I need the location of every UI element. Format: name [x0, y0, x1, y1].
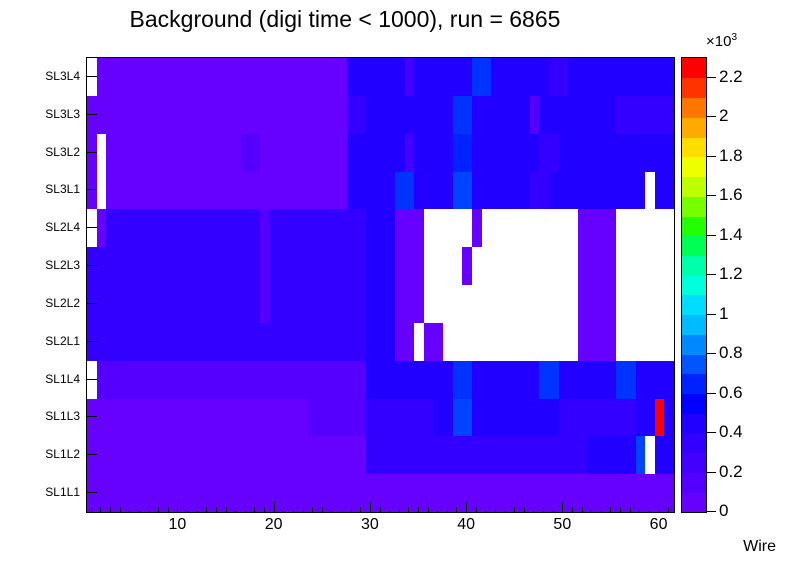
colorbar-band: [682, 295, 706, 315]
x-axis-tick: [331, 507, 332, 513]
x-axis-tick: [533, 507, 534, 513]
x-axis-tick: [206, 507, 207, 513]
heatmap-cell: [472, 96, 530, 134]
heatmap-cell: [424, 285, 579, 323]
x-axis-tick-label: 20: [265, 516, 283, 534]
heatmap-cell: [616, 285, 674, 323]
heatmap-cell: [347, 58, 405, 96]
heatmap-cell: [559, 399, 637, 437]
colorbar-band: [682, 97, 706, 117]
heatmap-cell: [87, 436, 367, 474]
x-axis-title: Wire: [743, 538, 776, 556]
y-axis-tick: [86, 416, 97, 417]
colorbar-tick: [707, 353, 716, 354]
colorbar-tick: [707, 156, 716, 157]
x-axis-tick: [303, 507, 304, 513]
colorbar-band: [682, 334, 706, 354]
colorbar-multiplier-text: ×10: [706, 33, 731, 50]
y-axis-label-sl1l2: SL1L2: [45, 447, 80, 461]
colorbar-tick: [707, 195, 716, 196]
heatmap-cell: [587, 436, 636, 474]
y-axis-label-sl1l1: SL1L1: [45, 485, 80, 499]
heatmap-cell: [510, 436, 588, 474]
heatmap-cell: [366, 96, 453, 134]
heatmap-cell: [549, 172, 646, 210]
heatmap-cell: [414, 134, 453, 172]
heatmap-cell: [539, 361, 559, 399]
heatmap-cells: [87, 58, 674, 512]
heatmap-cell: [664, 399, 674, 437]
y-axis-label-sl2l4: SL2L4: [45, 220, 80, 234]
x-axis-tick: [668, 507, 669, 513]
heatmap-cell: [549, 58, 569, 96]
y-axis-label-sl1l4: SL1L4: [45, 372, 80, 386]
y-axis-tick: [86, 152, 97, 153]
x-axis-tick-label: 50: [553, 516, 571, 534]
y-axis-tick: [86, 189, 97, 190]
page-title: Background (digi time < 1000), run = 686…: [0, 6, 690, 33]
x-axis-tick: [264, 507, 265, 513]
colorbar-band: [682, 176, 706, 196]
heatmap-cell: [491, 58, 549, 96]
colorbar-tick-label: 1.2: [719, 264, 743, 284]
colorbar[interactable]: [681, 57, 707, 513]
colorbar-band: [682, 394, 706, 414]
x-axis-tick: [341, 507, 342, 513]
colorbar-tick: [707, 116, 716, 117]
x-axis-tick: [274, 502, 275, 513]
x-axis-tick: [370, 502, 371, 513]
heatmap-cell: [366, 361, 453, 399]
x-axis-tick: [408, 507, 409, 513]
colorbar-tick-label: 1.6: [719, 185, 743, 205]
colorbar-tick-label: 1.4: [719, 225, 743, 245]
colorbar-tick: [707, 432, 716, 433]
heatmap-cell: [453, 134, 473, 172]
heatmap-cell: [347, 96, 367, 134]
x-axis-tick: [428, 507, 429, 513]
x-axis-tick: [197, 507, 198, 513]
colorbar-multiplier-exp: 3: [731, 32, 737, 43]
heatmap-cell: [530, 172, 550, 210]
x-axis-tick: [649, 507, 650, 513]
x-axis-tick: [591, 507, 592, 513]
y-axis-label-sl2l2: SL2L2: [45, 296, 80, 310]
heatmap-cell: [87, 247, 261, 285]
x-axis-tick: [639, 507, 640, 513]
x-axis-tick: [389, 507, 390, 513]
heatmap-cell: [453, 96, 473, 134]
x-axis-tick: [129, 507, 130, 513]
y-axis-label-sl2l1: SL2L1: [45, 334, 80, 348]
heatmap-cell: [578, 323, 617, 361]
colorbar-band: [682, 157, 706, 177]
heatmap-cell: [616, 247, 674, 285]
colorbar-tick: [707, 314, 716, 315]
heatmap-cell: [414, 172, 453, 210]
heatmap-cell: [308, 399, 366, 437]
colorbar-band: [682, 58, 706, 78]
x-axis-tick: [380, 507, 381, 513]
heatmap-cell: [395, 209, 424, 247]
colorbar-band: [682, 315, 706, 335]
colorbar-tick-label: 1: [719, 304, 728, 324]
y-axis-tick: [86, 454, 97, 455]
x-axis-tick: [177, 502, 178, 513]
x-axis-tick: [437, 507, 438, 513]
heatmap-cell: [366, 247, 395, 285]
colorbar-tick-label: 2.2: [719, 67, 743, 87]
x-axis-tick: [562, 502, 563, 513]
x-axis-tick: [187, 507, 188, 513]
colorbar-band: [682, 196, 706, 216]
x-axis-tick: [524, 507, 525, 513]
y-axis-tick: [86, 492, 97, 493]
heatmap-cell: [472, 361, 540, 399]
heatmap-cell: [87, 474, 675, 512]
colorbar-band: [682, 354, 706, 374]
colorbar-band: [682, 492, 706, 512]
heatmap-cell: [578, 247, 617, 285]
colorbar-tick-label: 0: [719, 501, 728, 521]
colorbar-band: [682, 255, 706, 275]
colorbar-tick-label: 0.2: [719, 462, 743, 482]
y-axis-tick: [86, 303, 97, 304]
x-axis-tick: [91, 507, 92, 513]
heatmap-cell: [578, 209, 617, 247]
colorbar-tick: [707, 393, 716, 394]
heatmap-cell: [616, 209, 674, 247]
heatmap-cell: [616, 96, 674, 134]
colorbar-tick: [707, 235, 716, 236]
colorbar-tick: [707, 274, 716, 275]
x-axis-tick: [543, 507, 544, 513]
heatmap-cell: [395, 323, 415, 361]
colorbar-band: [682, 236, 706, 256]
x-axis-tick: [485, 507, 486, 513]
heatmap-cell: [559, 134, 675, 172]
heatmap-cell: [539, 96, 617, 134]
heatmap-cell: [97, 361, 367, 399]
heatmap-cell: [366, 285, 395, 323]
y-axis-label-sl1l3: SL1L3: [45, 409, 80, 423]
heatmap-cell: [87, 285, 261, 323]
colorbar-tick-label: 0.6: [719, 383, 743, 403]
heatmap-cell: [366, 323, 395, 361]
heatmap-cell: [559, 361, 617, 399]
heatmap-cell: [433, 399, 453, 437]
x-axis-tick: [418, 507, 419, 513]
x-axis-tick-label: 10: [169, 516, 187, 534]
colorbar-band: [682, 413, 706, 433]
y-axis-tick: [86, 227, 97, 228]
heatmap-cell: [636, 361, 675, 399]
x-axis-tick: [553, 507, 554, 513]
heatmap-cell: [472, 399, 559, 437]
heatmap-cell: [472, 172, 530, 210]
heatmap-cell: [347, 134, 405, 172]
colorbar-band: [682, 117, 706, 137]
x-axis-tick: [456, 507, 457, 513]
heatmap-cell: [453, 172, 473, 210]
heatmap-cell: [97, 58, 348, 96]
heatmap-cell: [366, 436, 511, 474]
x-axis-tick-label: 40: [457, 516, 475, 534]
colorbar-band: [682, 137, 706, 157]
colorbar-tick-label: 0.4: [719, 422, 743, 442]
x-axis-tick: [399, 507, 400, 513]
heatmap-cell: [424, 247, 463, 285]
colorbar-tick: [707, 472, 716, 473]
heatmap-cell: [87, 399, 309, 437]
y-axis-label-sl3l3: SL3L3: [45, 107, 80, 121]
x-axis-tick: [620, 507, 621, 513]
colorbar-tick-label: 2: [719, 106, 728, 126]
heatmap-cell: [453, 361, 473, 399]
x-axis-tick: [226, 507, 227, 513]
x-axis-tick: [216, 507, 217, 513]
colorbar-multiplier: ×103: [706, 32, 737, 50]
x-axis-tick: [514, 507, 515, 513]
x-axis-tick: [505, 507, 506, 513]
y-axis-labels: SL1L1SL1L2SL1L3SL1L4SL2L1SL2L2SL2L3SL2L4…: [0, 57, 80, 513]
x-axis-tick: [168, 507, 169, 513]
x-axis-tick-label: 60: [650, 516, 668, 534]
root-canvas: Background (digi time < 1000), run = 686…: [0, 0, 796, 572]
heatmap-cell: [568, 58, 674, 96]
colorbar-band: [682, 78, 706, 98]
heatmap-cell: [414, 58, 472, 96]
y-axis-tick: [86, 76, 97, 77]
heatmap-cell: [270, 209, 367, 247]
y-axis-tick: [86, 341, 97, 342]
x-axis-tick: [659, 502, 660, 513]
heatmap-cell: [472, 58, 492, 96]
heatmap-cell: [424, 209, 473, 247]
x-axis-tick-label: 30: [361, 516, 379, 534]
heatmap-cell: [443, 323, 578, 361]
heatmap-cell: [366, 209, 395, 247]
x-axis-tick: [630, 507, 631, 513]
x-axis-tick: [293, 507, 294, 513]
heatmap-cell: [260, 134, 347, 172]
y-axis-tick: [86, 114, 97, 115]
colorbar-tick-label: 0.8: [719, 343, 743, 363]
heatmap-cell: [616, 323, 674, 361]
heatmap-plot-area[interactable]: [86, 57, 675, 513]
colorbar-band: [682, 433, 706, 453]
x-axis-tick: [120, 507, 121, 513]
colorbar-band: [682, 374, 706, 394]
heatmap-cell: [87, 323, 367, 361]
heatmap-cell: [424, 323, 444, 361]
y-axis-label-sl3l1: SL3L1: [45, 182, 80, 196]
x-axis-tick: [283, 507, 284, 513]
x-axis-tick: [601, 507, 602, 513]
heatmap-cell: [655, 436, 675, 474]
heatmap-cell: [482, 209, 579, 247]
x-axis-tick: [149, 507, 150, 513]
heatmap-cell: [106, 134, 241, 172]
x-axis-tick: [447, 507, 448, 513]
heatmap-cell: [106, 172, 347, 210]
heatmap-cell: [106, 209, 261, 247]
heatmap-cell: [636, 399, 656, 437]
y-axis-label-sl3l4: SL3L4: [45, 69, 80, 83]
heatmap-cell: [366, 399, 434, 437]
heatmap-cell: [578, 285, 617, 323]
x-axis-tick: [322, 507, 323, 513]
heatmap-cell: [453, 399, 473, 437]
colorbar-tick: [707, 77, 716, 78]
x-axis-tick: [139, 507, 140, 513]
colorbar-tick-label: 1.8: [719, 146, 743, 166]
heatmap-cell: [472, 134, 540, 172]
heatmap-cell: [270, 247, 367, 285]
x-axis-tick: [245, 507, 246, 513]
x-axis-tick: [476, 507, 477, 513]
x-axis-tick: [466, 502, 467, 513]
y-axis-label-sl3l2: SL3L2: [45, 145, 80, 159]
y-axis-tick: [86, 379, 97, 380]
heatmap-cell: [395, 172, 415, 210]
x-axis-tick: [254, 507, 255, 513]
x-axis-tick: [572, 507, 573, 513]
x-axis-tick: [312, 507, 313, 513]
x-axis-tick: [158, 507, 159, 513]
heatmap-cell: [539, 134, 559, 172]
x-axis-tick: [351, 507, 352, 513]
heatmap-cell: [270, 285, 367, 323]
colorbar-band: [682, 453, 706, 473]
y-axis-label-sl2l3: SL2L3: [45, 258, 80, 272]
x-axis-tick: [235, 507, 236, 513]
x-axis-tick: [495, 507, 496, 513]
colorbar-band: [682, 216, 706, 236]
colorbar-band: [682, 473, 706, 493]
heatmap-cell: [472, 247, 578, 285]
y-axis-tick: [86, 265, 97, 266]
heatmap-cell: [395, 285, 424, 323]
heatmap-cell: [87, 96, 347, 134]
heatmap-cell: [347, 172, 396, 210]
x-axis-tick: [582, 507, 583, 513]
colorbar-tick: [707, 511, 716, 512]
x-axis-tick: [360, 507, 361, 513]
colorbar-band: [682, 275, 706, 295]
x-axis-tick: [610, 507, 611, 513]
heatmap-cell: [395, 247, 424, 285]
heatmap-cell: [241, 134, 261, 172]
heatmap-cell: [616, 361, 636, 399]
x-axis-tick: [100, 507, 101, 513]
heatmap-cell: [655, 172, 675, 210]
x-axis-tick: [110, 507, 111, 513]
